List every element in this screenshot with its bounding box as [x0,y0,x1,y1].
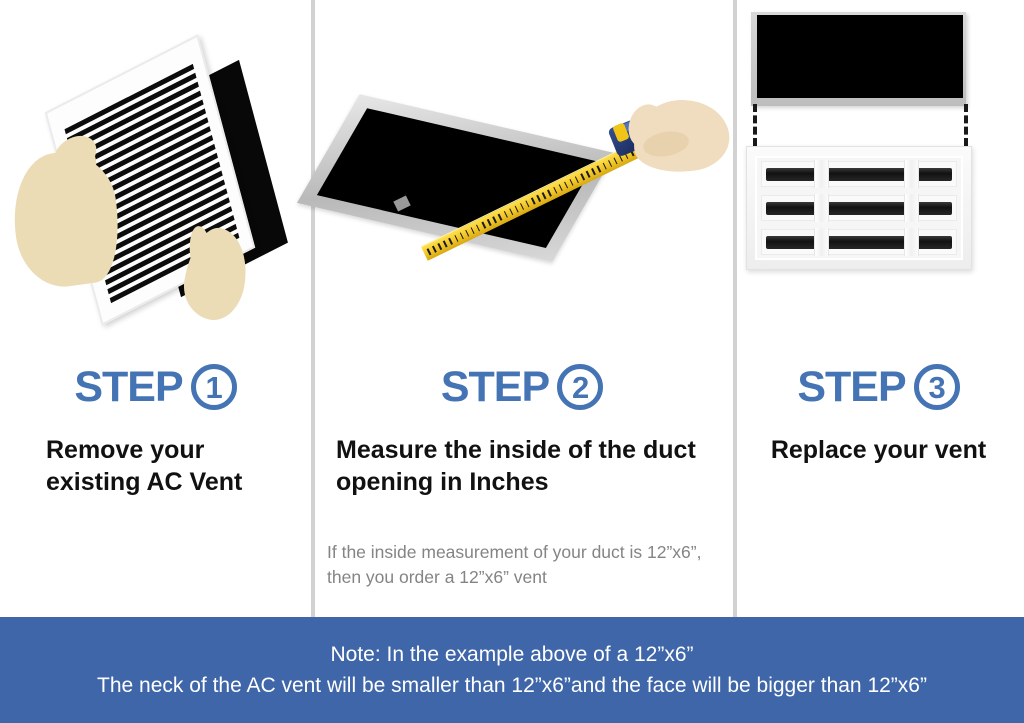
step-2-illustration [311,0,733,360]
vent-removal-scene [0,0,311,360]
step-panel-2: STEP 2 Measure the inside of the duct op… [311,0,733,617]
duct-frame-shape [751,12,966,106]
step-label: STEP [441,366,549,409]
louver-blade [766,236,952,249]
vent-divider-bar [814,228,829,256]
step-number-badge: 2 [557,364,603,410]
duct-opening-shape [317,108,596,248]
alignment-dashed-line-left [753,104,757,146]
step-label: STEP [797,366,905,409]
step-1-heading: STEP 1 [0,360,311,414]
instruction-graphic: STEP 1 Remove your existing AC Vent [0,0,1024,723]
vent-divider-bar [904,194,919,222]
step-label: STEP [74,366,182,409]
step-2-description: Measure the inside of the duct opening i… [311,434,733,498]
step-3-illustration [733,0,1024,360]
note-banner: Note: In the example above of a 12”x6” T… [0,617,1024,723]
vent-louver-row [761,195,957,221]
step-3-heading: STEP 3 [733,360,1024,414]
step-number-badge: 1 [191,364,237,410]
duct-opening-shape [757,15,963,98]
vent-divider-bar [904,160,919,188]
vent-replacement-scene [733,0,1024,360]
step-2-subdescription: If the inside measurement of your duct i… [311,540,733,591]
alignment-dashed-line-right [964,104,968,146]
step-panel-3: STEP 3 Replace your vent [733,0,1024,617]
step-2-heading: STEP 2 [311,360,733,414]
vent-louver-row [761,161,957,187]
step-number-badge: 3 [914,364,960,410]
vent-louver-row [761,229,957,255]
step-1-description: Remove your existing AC Vent [0,434,311,498]
note-line-2: The neck of the AC vent will be smaller … [97,670,927,702]
replacement-vent [746,146,972,270]
step-1-illustration [0,0,311,360]
vent-inner-frame [755,156,963,260]
step-3-description: Replace your vent [733,434,1024,466]
louver-blade [766,202,952,215]
note-line-1: Note: In the example above of a 12”x6” [330,639,693,671]
vent-divider-bar [904,228,919,256]
step-panel-1: STEP 1 Remove your existing AC Vent [0,0,311,617]
louver-blade [766,168,952,181]
vent-divider-bar [814,194,829,222]
steps-container: STEP 1 Remove your existing AC Vent [0,0,1024,617]
vent-divider-bar [814,160,829,188]
duct-opening-group [751,12,966,106]
tape-measure-scene [311,0,733,360]
